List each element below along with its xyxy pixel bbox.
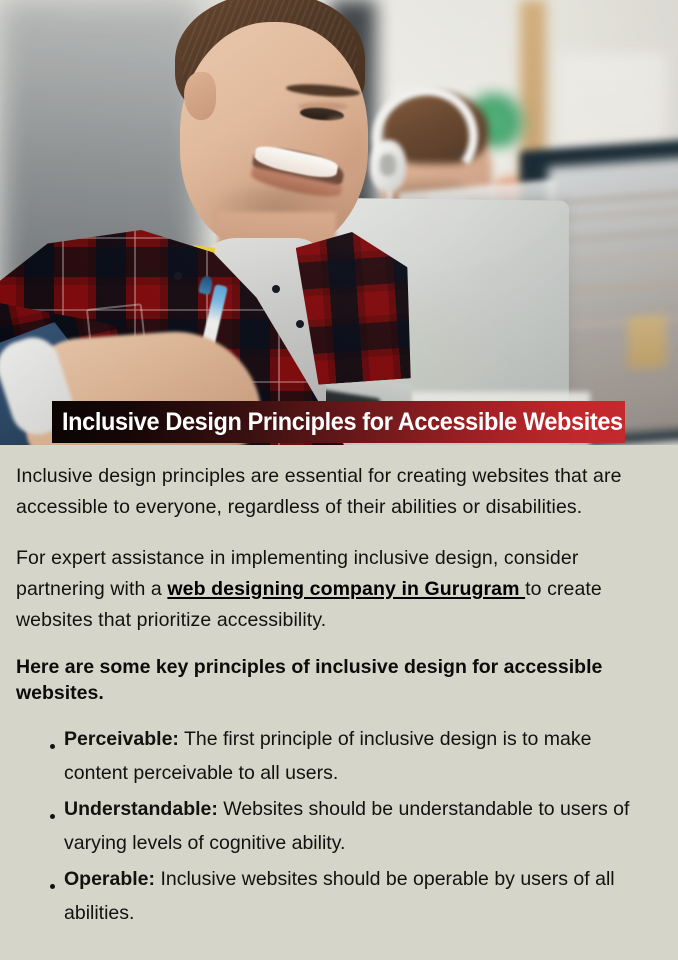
person-one-ear bbox=[184, 72, 216, 120]
headphones-earcup-inner bbox=[380, 154, 396, 176]
list-item: Perceivable: The first principle of incl… bbox=[36, 722, 656, 790]
plaid-shirt-button bbox=[296, 320, 304, 328]
principle-term: Operable: bbox=[64, 868, 155, 890]
principles-list: Perceivable: The first principle of incl… bbox=[16, 722, 656, 930]
background-monitor-highlight bbox=[628, 315, 666, 370]
plaid-shirt-button bbox=[272, 285, 280, 293]
list-item: Operable: Inclusive websites should be o… bbox=[36, 862, 656, 930]
article-body: Inclusive design principles are essentia… bbox=[0, 445, 678, 932]
principle-term: Perceivable: bbox=[64, 728, 179, 750]
article-page: Inclusive Design Principles for Accessib… bbox=[0, 0, 678, 960]
section-heading: Here are some key principles of inclusiv… bbox=[16, 654, 656, 706]
plaid-shirt-button bbox=[174, 272, 182, 280]
hero-image bbox=[0, 0, 678, 445]
paragraph-intro: Inclusive design principles are essentia… bbox=[16, 461, 656, 523]
page-title: Inclusive Design Principles for Accessib… bbox=[62, 408, 623, 437]
office-team-laptops-photo bbox=[0, 0, 678, 445]
web-designing-company-link[interactable]: web designing company in Gurugram bbox=[167, 578, 525, 600]
list-item: Understandable: Websites should be under… bbox=[36, 792, 656, 860]
principle-term: Understandable: bbox=[64, 798, 218, 820]
paragraph-cta: For expert assistance in implementing in… bbox=[16, 543, 656, 636]
page-title-banner: Inclusive Design Principles for Accessib… bbox=[52, 401, 625, 443]
